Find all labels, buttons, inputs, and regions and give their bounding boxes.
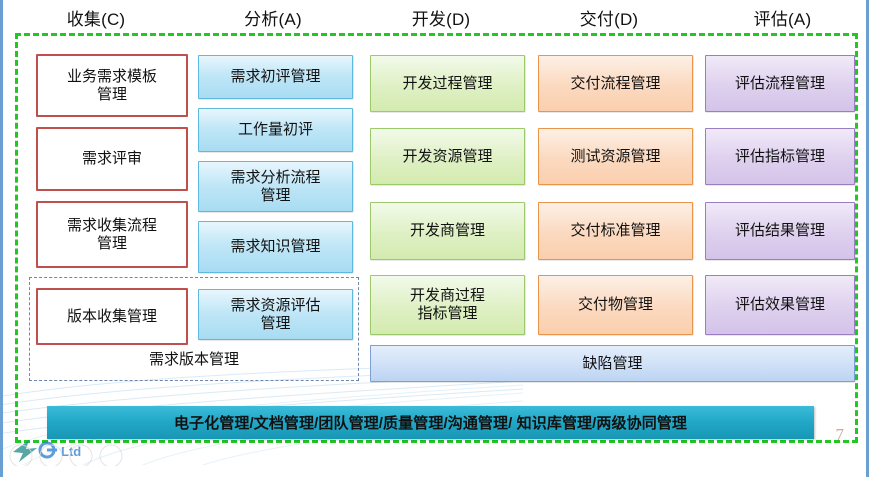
module-box-requirement-collect-process[interactable]: 需求收集流程 管理: [36, 201, 188, 268]
module-box-requirement-initial-review[interactable]: 需求初评管理: [198, 55, 353, 99]
module-box-development-resource[interactable]: 开发资源管理: [370, 128, 525, 185]
module-box-delivery-standard[interactable]: 交付标准管理: [538, 202, 693, 260]
footer-banner: 电子化管理/文档管理/团队管理/质量管理/沟通管理/ 知识库管理/两级协同管理: [47, 406, 814, 439]
column-header-evaluate: 评估(A): [693, 6, 869, 34]
module-box-requirement-knowledge[interactable]: 需求知识管理: [198, 221, 353, 273]
module-box-evaluation-effect[interactable]: 评估效果管理: [705, 275, 855, 335]
version-management-group-label: 需求版本管理: [29, 352, 359, 369]
column-header-deliver: 交付(D): [525, 6, 693, 34]
page-number: 7: [836, 425, 845, 445]
module-box-test-resource[interactable]: 测试资源管理: [538, 128, 693, 185]
module-bar-defect-management[interactable]: 缺陷管理: [370, 345, 855, 382]
module-box-version-collect-management[interactable]: 版本收集管理: [36, 288, 188, 345]
column-header-analyze: 分析(A): [189, 6, 357, 34]
module-box-development-process[interactable]: 开发过程管理: [370, 55, 525, 112]
module-box-workload-initial-estimate[interactable]: 工作量初评: [198, 108, 353, 152]
column-header-row: 收集(C) 分析(A) 开发(D) 交付(D) 评估(A): [3, 6, 869, 34]
module-box-developer-management[interactable]: 开发商管理: [370, 202, 525, 260]
module-box-business-requirement-template[interactable]: 业务需求模板 管理: [36, 54, 188, 117]
module-box-requirement-analysis-process[interactable]: 需求分析流程 管理: [198, 161, 353, 212]
slide-canvas: 收集(C) 分析(A) 开发(D) 交付(D) 评估(A) 需求版本管理 业务需…: [0, 0, 869, 477]
svg-text:Ltd: Ltd: [61, 444, 81, 459]
module-box-developer-process-metrics[interactable]: 开发商过程 指标管理: [370, 275, 525, 335]
module-box-evaluation-metrics[interactable]: 评估指标管理: [705, 128, 855, 185]
column-header-develop: 开发(D): [357, 6, 525, 34]
module-box-requirement-resource-evaluation[interactable]: 需求资源评估 管理: [198, 289, 353, 340]
column-header-collect: 收集(C): [3, 6, 189, 34]
module-box-requirement-review[interactable]: 需求评审: [36, 127, 188, 191]
module-box-delivery-process[interactable]: 交付流程管理: [538, 55, 693, 112]
module-box-deliverable-management[interactable]: 交付物管理: [538, 275, 693, 335]
module-box-evaluation-result[interactable]: 评估结果管理: [705, 202, 855, 260]
module-box-evaluation-process[interactable]: 评估流程管理: [705, 55, 855, 112]
